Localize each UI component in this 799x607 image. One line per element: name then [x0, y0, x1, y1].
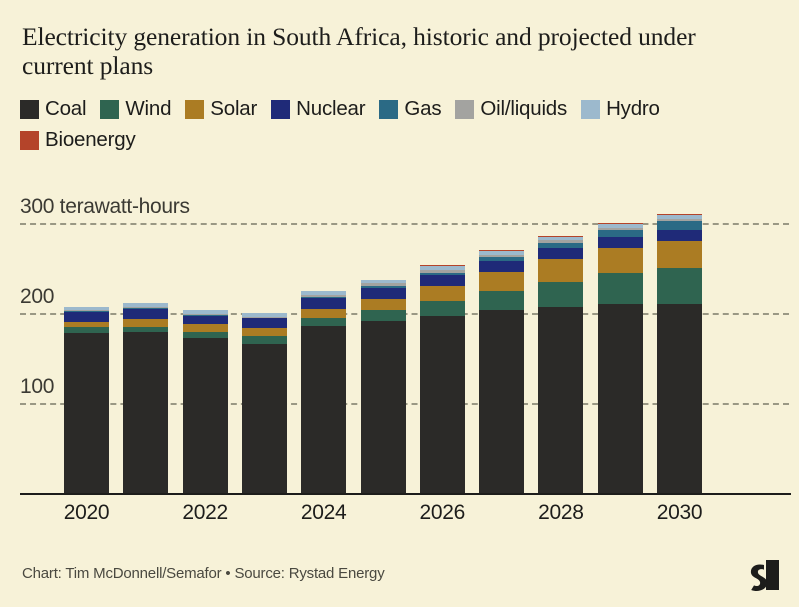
- bar-segment-coal[interactable]: [183, 338, 228, 493]
- bar-segment-coal[interactable]: [420, 316, 465, 493]
- bar-segment-gas[interactable]: [657, 221, 702, 230]
- bar-segment-nuclear[interactable]: [479, 261, 524, 272]
- bar-segment-gas[interactable]: [598, 230, 643, 237]
- bar-segment-coal[interactable]: [598, 304, 643, 493]
- legend-item-bioenergy[interactable]: Bioenergy: [20, 128, 136, 152]
- legend-item-wind[interactable]: Wind: [100, 97, 171, 121]
- page-title: Electricity generation in South Africa, …: [22, 22, 762, 80]
- bar-segment-solar[interactable]: [420, 286, 465, 301]
- bar-2020[interactable]: [64, 307, 109, 493]
- legend-item-gas[interactable]: Gas: [379, 97, 441, 121]
- x-axis-tick-label: 2030: [644, 501, 715, 525]
- bar-segment-wind[interactable]: [538, 282, 583, 307]
- bar-2028[interactable]: [538, 236, 583, 493]
- bar-segment-wind[interactable]: [361, 310, 406, 321]
- x-axis-tick-label: 2024: [288, 501, 359, 525]
- bar-segment-wind[interactable]: [598, 273, 643, 304]
- x-axis-tick-label: 2022: [170, 501, 241, 525]
- bar-2027[interactable]: [479, 250, 524, 493]
- chart-page: Electricity generation in South Africa, …: [0, 0, 799, 607]
- y-axis-tick-label: 100: [20, 375, 54, 399]
- bar-segment-solar[interactable]: [301, 309, 346, 318]
- bar-segment-coal[interactable]: [657, 304, 702, 493]
- x-axis-tick-label: 2020: [51, 501, 122, 525]
- bar-segment-nuclear[interactable]: [420, 275, 465, 286]
- legend-item-label: Wind: [125, 97, 171, 121]
- bar-segment-wind[interactable]: [479, 291, 524, 311]
- bar-2021[interactable]: [123, 303, 168, 493]
- x-axis-line: [20, 493, 791, 495]
- bar-2023[interactable]: [242, 313, 287, 493]
- bar-segment-solar[interactable]: [242, 328, 287, 336]
- bar-segment-coal[interactable]: [361, 321, 406, 493]
- bar-segment-coal[interactable]: [538, 307, 583, 493]
- bar-segment-coal[interactable]: [123, 332, 168, 493]
- x-axis-tick-label: 2026: [407, 501, 478, 525]
- bar-2029[interactable]: [598, 223, 643, 493]
- legend-item-label: Bioenergy: [45, 128, 136, 152]
- bar-segment-wind[interactable]: [420, 301, 465, 315]
- bar-2024[interactable]: [301, 291, 346, 493]
- legend-item-nuclear[interactable]: Nuclear: [271, 97, 365, 121]
- bar-segment-coal[interactable]: [64, 333, 109, 493]
- legend-item-label: Oil/liquids: [480, 97, 567, 121]
- bar-2026[interactable]: [420, 265, 465, 493]
- bar-segment-solar[interactable]: [183, 324, 228, 332]
- bar-segment-solar[interactable]: [479, 272, 524, 291]
- legend-item-coal[interactable]: Coal: [20, 97, 86, 121]
- legend-item-label: Coal: [45, 97, 86, 121]
- bar-segment-nuclear[interactable]: [538, 248, 583, 259]
- bar-segment-solar[interactable]: [538, 259, 583, 282]
- bar-segment-wind[interactable]: [242, 336, 287, 343]
- bar-2022[interactable]: [183, 310, 228, 493]
- chart-legend: CoalWindSolarNuclearGasOil/liquidsHydroB…: [20, 97, 780, 159]
- legend-item-label: Solar: [210, 97, 257, 121]
- legend-item-oil-liquids[interactable]: Oil/liquids: [455, 97, 567, 121]
- bar-group: [0, 196, 799, 496]
- bar-segment-solar[interactable]: [598, 248, 643, 273]
- bar-segment-coal[interactable]: [479, 310, 524, 493]
- bar-segment-wind[interactable]: [657, 268, 702, 304]
- legend-item-label: Gas: [404, 97, 441, 121]
- bar-segment-solar[interactable]: [123, 319, 168, 326]
- bar-2030[interactable]: [657, 214, 702, 493]
- legend-item-label: Hydro: [606, 97, 660, 121]
- y-axis-tick-label: 300 terawatt-hours: [20, 195, 190, 219]
- legend-swatch-icon: [185, 100, 204, 119]
- x-axis-labels: 202020222024202620282030: [0, 501, 799, 533]
- bar-segment-coal[interactable]: [242, 344, 287, 493]
- plot-area: 300 terawatt-hours200100: [0, 196, 799, 496]
- legend-item-hydro[interactable]: Hydro: [581, 97, 660, 121]
- bar-segment-nuclear[interactable]: [123, 309, 168, 320]
- legend-swatch-icon: [455, 100, 474, 119]
- bar-segment-nuclear[interactable]: [301, 298, 346, 309]
- legend-swatch-icon: [581, 100, 600, 119]
- y-axis-tick-label: 200: [20, 285, 54, 309]
- bar-segment-nuclear[interactable]: [657, 230, 702, 241]
- bar-segment-nuclear[interactable]: [183, 316, 228, 324]
- bar-segment-wind[interactable]: [301, 318, 346, 326]
- x-axis-tick-label: 2028: [525, 501, 596, 525]
- bar-segment-nuclear[interactable]: [598, 237, 643, 248]
- legend-swatch-icon: [271, 100, 290, 119]
- bar-segment-nuclear[interactable]: [361, 288, 406, 299]
- chart-credit: Chart: Tim McDonnell/Semafor • Source: R…: [22, 565, 385, 582]
- legend-swatch-icon: [20, 100, 39, 119]
- legend-swatch-icon: [20, 131, 39, 150]
- bar-2025[interactable]: [361, 280, 406, 493]
- legend-swatch-icon: [100, 100, 119, 119]
- legend-swatch-icon: [379, 100, 398, 119]
- bar-segment-solar[interactable]: [657, 241, 702, 268]
- legend-item-label: Nuclear: [296, 97, 365, 121]
- bar-segment-coal[interactable]: [301, 326, 346, 493]
- bar-segment-nuclear[interactable]: [242, 318, 287, 328]
- semafor-logo: [747, 557, 783, 593]
- legend-item-solar[interactable]: Solar: [185, 97, 257, 121]
- bar-segment-solar[interactable]: [361, 299, 406, 311]
- bar-segment-nuclear[interactable]: [64, 312, 109, 322]
